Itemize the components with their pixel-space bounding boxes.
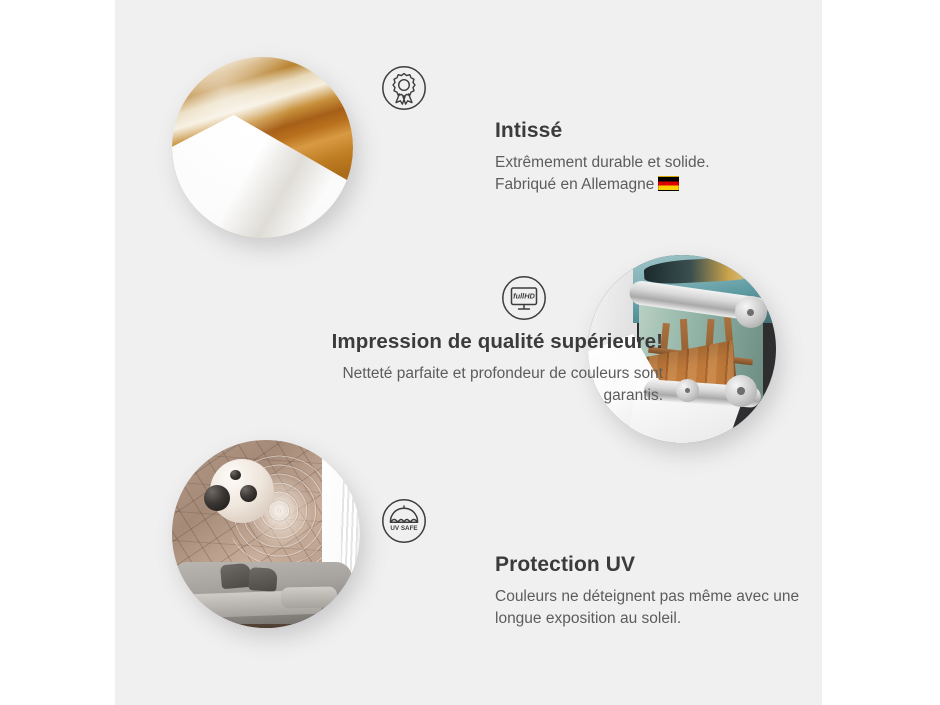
banner-content-panel: Intissé Extrêmement durable et solide. F…	[115, 0, 822, 705]
press-wheel-bottom-left	[676, 379, 699, 402]
press-wheel-top-right	[735, 296, 767, 328]
feature-protection-uv-body-line-2: longue exposition au soleil.	[495, 610, 681, 627]
german-flag-icon	[658, 176, 679, 191]
sofa-chaise	[281, 586, 338, 608]
peeling-wallpaper-image	[172, 57, 353, 238]
feature-protection-uv-body: Couleurs ne déteignent pas même avec une…	[495, 586, 822, 630]
product-feature-banner: Intissé Extrêmement durable et solide. F…	[0, 0, 940, 705]
feature-intisse-body-line-2: Fabriqué en Allemagne	[495, 176, 654, 193]
feature-intisse-body-line-1: Extrêmement durable et solide.	[495, 154, 710, 171]
wallpaper-highlight	[172, 57, 353, 238]
sofa-cushion-1	[220, 563, 252, 590]
peeling-wallpaper-photo	[172, 57, 353, 238]
feature-impression-body: Netteté parfaite et profondeur de couleu…	[305, 363, 663, 407]
feature-impression-title: Impression de qualité supérieure!	[305, 330, 663, 355]
feature-impression-body-line-1: Netteté parfaite et profondeur de couleu…	[342, 365, 663, 382]
feature-intisse-body: Extrêmement durable et solide. Fabriqué …	[495, 152, 795, 196]
feature-impression-body-line-2: garantis.	[604, 387, 663, 404]
wall-dark-orb-tiny	[230, 470, 240, 480]
fullhd-icon-label: fullHD	[513, 292, 535, 301]
feature-impression-text: Impression de qualité supérieure! Nettet…	[305, 330, 663, 407]
feature-intisse-text: Intissé Extrêmement durable et solide. F…	[495, 118, 795, 196]
award-rosette-icon	[381, 65, 427, 111]
fullhd-monitor-icon: fullHD	[501, 275, 547, 321]
living-room-wallpaper-photo	[172, 440, 360, 628]
sofa-cushion-2	[248, 567, 278, 591]
feature-protection-uv-body-line-1: Couleurs ne déteignent pas même avec une	[495, 588, 799, 605]
uv-safe-umbrella-icon: UV SAFE	[381, 498, 427, 544]
feature-protection-uv-text: Protection UV Couleurs ne déteignent pas…	[495, 552, 822, 630]
uv-safe-icon-label: UV SAFE	[390, 525, 417, 532]
wall-dark-orb-small	[240, 485, 257, 502]
feature-intisse-title: Intissé	[495, 118, 795, 143]
living-room-image	[172, 440, 360, 628]
feature-protection-uv-title: Protection UV	[495, 552, 822, 577]
